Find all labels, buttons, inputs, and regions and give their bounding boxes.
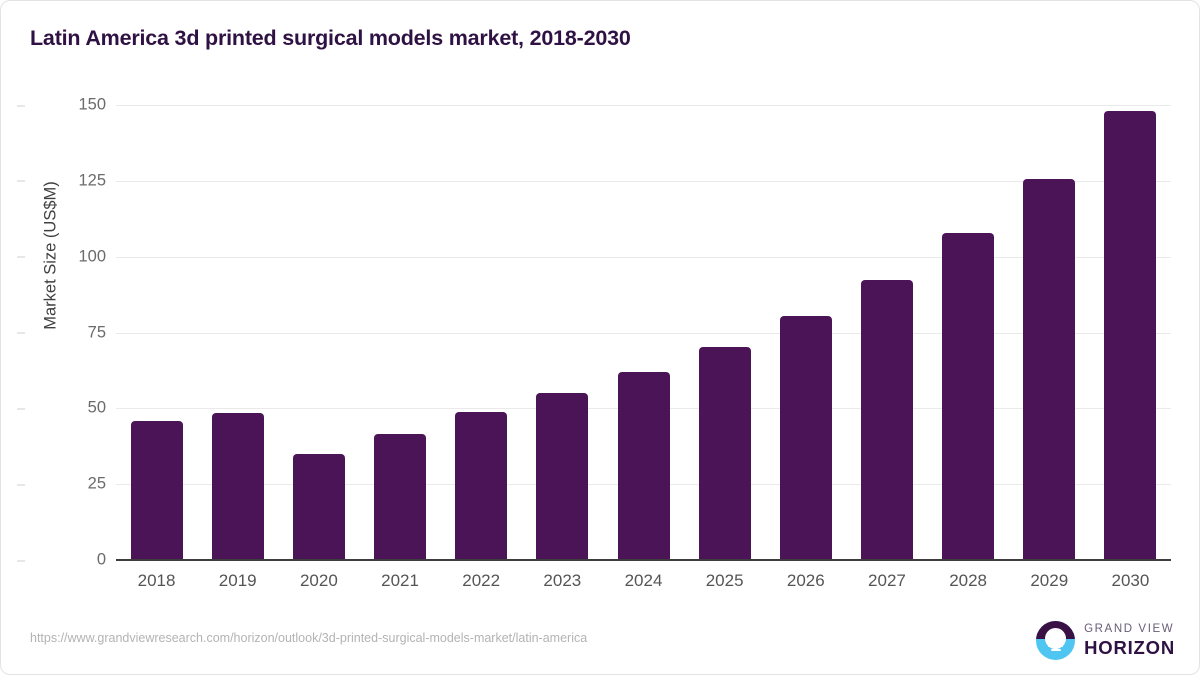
y-axis-tick-mark [17,105,25,106]
bar-slot [359,105,440,560]
x-axis-tick-label: 2021 [381,571,419,591]
bar-slot [1009,105,1090,560]
y-axis-tick-label: 150 [26,96,106,115]
bar-2020[interactable] [293,454,345,560]
logo-line-1: GRAND VIEW [1084,624,1175,636]
y-axis-tick-mark [17,181,25,182]
y-axis-tick-label: 25 [26,475,106,494]
x-axis-tick-label: 2020 [300,571,338,591]
bar-2019[interactable] [212,413,264,560]
logo-line-2: HORIZON [1084,639,1175,658]
x-axis-tick-label: 2023 [543,571,581,591]
bar-2029[interactable] [1023,179,1075,560]
x-axis-tick-label: 2027 [868,571,906,591]
x-axis-tick-label: 2029 [1030,571,1068,591]
x-axis-tick-label: 2018 [138,571,176,591]
bar-2018[interactable] [131,421,183,560]
y-axis-tick-label: 50 [26,399,106,418]
x-axis-tick-label: 2022 [462,571,500,591]
bar-2025[interactable] [699,347,751,560]
source-url[interactable]: https://www.grandviewresearch.com/horizo… [30,631,587,645]
logo-wordmark: GRAND VIEW HORIZON [1084,624,1175,657]
bar-slot [684,105,765,560]
y-axis-tick-mark [17,257,25,258]
bar-2022[interactable] [455,412,507,560]
bar-slot [1090,105,1171,560]
plot-area [116,105,1171,560]
bar-slot [278,105,359,560]
logo-ray-2 [1051,649,1061,651]
bar-slot [603,105,684,560]
x-axis-tick-label: 2030 [1112,571,1150,591]
x-axis-tick-label: 2025 [706,571,744,591]
bar-slot [197,105,278,560]
y-axis-tick-mark [17,408,25,409]
bar-slot [846,105,927,560]
x-axis-tick-label: 2028 [949,571,987,591]
bar-slot [928,105,1009,560]
bar-2021[interactable] [374,434,426,560]
bar-2023[interactable] [536,393,588,560]
logo-ray-1 [1048,645,1063,647]
bar-2026[interactable] [780,316,832,560]
bar-2024[interactable] [618,372,670,560]
bar-2030[interactable] [1104,111,1156,560]
y-axis-tick-mark [17,560,25,561]
bar-slot [441,105,522,560]
y-axis-tick-mark [17,484,25,485]
x-axis-tick-label: 2026 [787,571,825,591]
bar-series [116,105,1171,560]
grand-view-horizon-logo: GRAND VIEW HORIZON [1036,621,1175,660]
y-axis-tick-label: 0 [26,551,106,570]
bar-2028[interactable] [942,233,994,560]
y-axis-tick-label: 125 [26,171,106,190]
x-axis-tick-label: 2024 [625,571,663,591]
horizon-sun-icon [1036,621,1075,660]
x-axis-line [116,559,1171,561]
bar-slot [765,105,846,560]
bar-2027[interactable] [861,280,913,560]
chart-card: Latin America 3d printed surgical models… [0,0,1200,675]
chart-canvas: Market Size (US$M) 0255075100125150 2018… [1,1,1200,675]
bar-slot [522,105,603,560]
y-axis-tick-label: 75 [26,323,106,342]
y-axis-tick-label: 100 [26,247,106,266]
y-axis-tick-mark [17,333,25,334]
bar-slot [116,105,197,560]
x-axis-tick-label: 2019 [219,571,257,591]
